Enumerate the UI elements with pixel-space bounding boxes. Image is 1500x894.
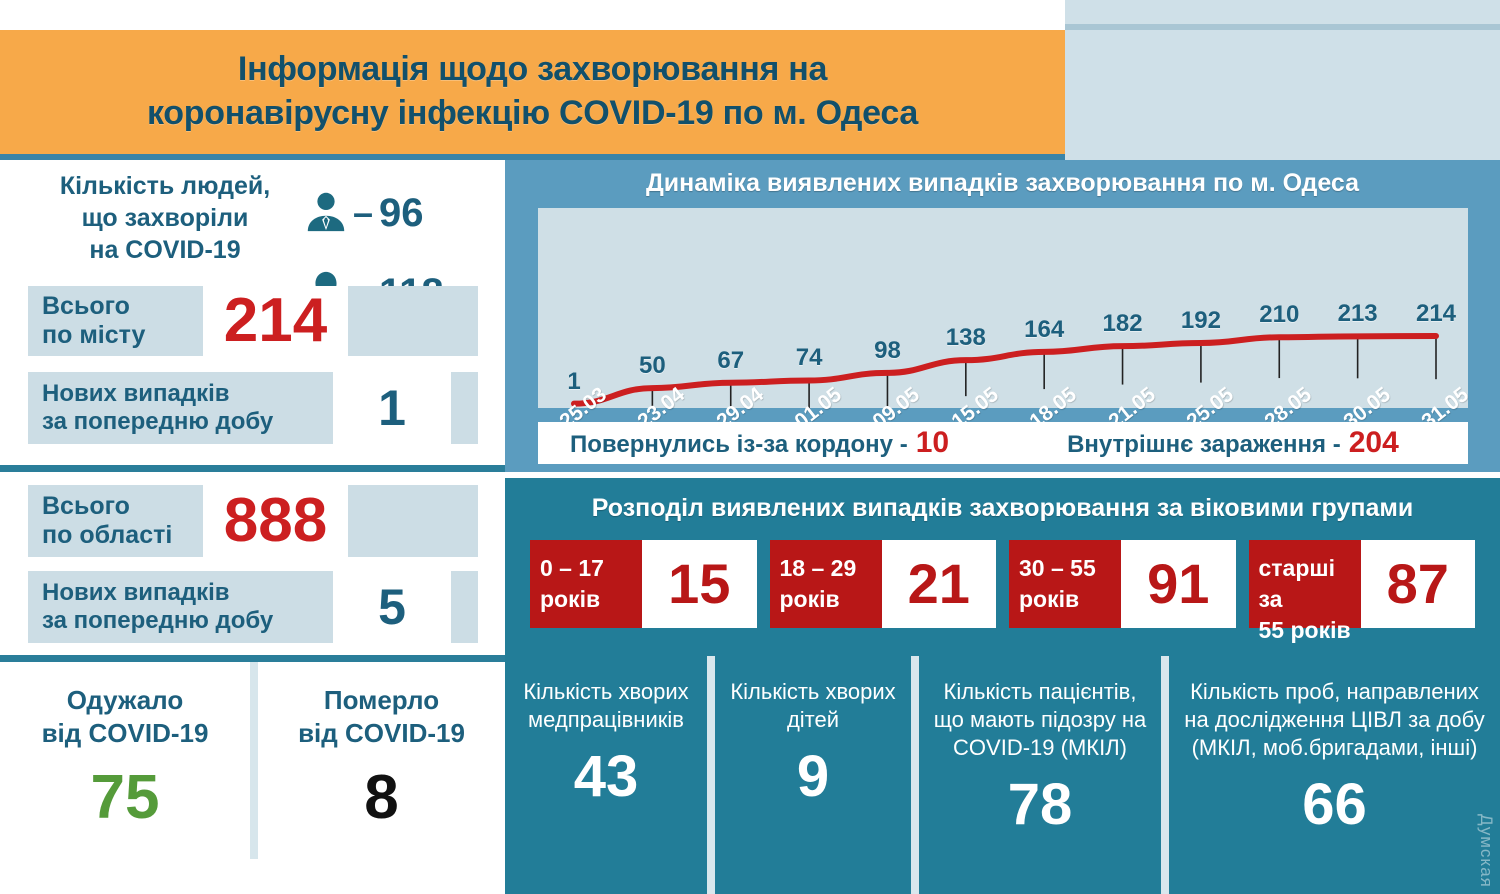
- header: Інформація щодо захворювання на коронаві…: [0, 30, 1500, 160]
- outcomes-divider: [250, 662, 258, 859]
- abroad-value: 10: [916, 426, 949, 460]
- bottom-cell-divider: [911, 656, 919, 894]
- city-total-value: 214: [224, 290, 327, 352]
- age-group-range: старші за55 років: [1249, 540, 1361, 628]
- chart-point-label: 67: [717, 349, 744, 373]
- bottom-stat-cell: Кількість хворихдітей9: [715, 656, 911, 894]
- oblast-total-value: 888: [224, 490, 327, 552]
- bottom-stats-row: Кількість хворихмедпрацівників43Кількіст…: [505, 656, 1500, 894]
- bottom-stat-cell: Кількість хворихмедпрацівників43: [505, 656, 707, 894]
- male-count: 96: [379, 193, 424, 233]
- bottom-stat-label: Кількість пацієнтів,що мають підозру наC…: [925, 656, 1155, 762]
- bottom-cell-divider: [1161, 656, 1169, 894]
- oblast-new-label-line2: за попередню добу: [42, 607, 273, 634]
- recovered-label: Одужало від COVID-19: [0, 662, 250, 749]
- origin-bar: Повернулись із-за кордону - 10 Внутрішнє…: [538, 422, 1468, 464]
- city-title-line2: що захворіли: [82, 204, 249, 232]
- city-new-value: 1: [378, 383, 406, 433]
- city-total-row: Всього по місту 214: [28, 286, 478, 356]
- age-group-range: 0 – 17років: [530, 540, 642, 628]
- abroad-item: Повернулись із-за кордону - 10: [570, 426, 949, 460]
- city-total-valuebox: 214: [203, 286, 348, 356]
- age-group-box: 0 – 17років15: [530, 540, 757, 628]
- died-label-line1: Померло: [324, 685, 439, 715]
- oblast-stats-block: Всього по області 888 Нових випадків за …: [0, 472, 505, 655]
- male-row: – 96: [303, 182, 483, 244]
- age-groups-panel: Розподіл виявлених випадків захворювання…: [505, 478, 1500, 656]
- age-group-value: 87: [1361, 540, 1476, 628]
- age-groups-list: 0 – 17років1518 – 29років2130 – 55років9…: [530, 540, 1475, 628]
- age-group-range-line2: років: [1019, 586, 1079, 612]
- bottom-stat-value: 9: [721, 734, 905, 806]
- left-divider-1: [0, 465, 505, 472]
- age-group-range-line2: 55 років: [1259, 617, 1351, 643]
- oblast-total-label-line2: по області: [42, 521, 172, 549]
- chart-point-label: 182: [1103, 312, 1143, 336]
- watermark: Думская: [1476, 814, 1496, 888]
- age-groups-title: Розподіл виявлених випадків захворювання…: [505, 478, 1500, 523]
- age-group-value: 15: [642, 540, 757, 628]
- city-stats-title: Кількість людей, що захворіли на COVID-1…: [0, 160, 330, 266]
- oblast-total-label-line1: Всього: [42, 492, 130, 520]
- chart-point-label: 138: [946, 326, 986, 350]
- left-column: Кількість людей, що захворіли на COVID-1…: [0, 160, 505, 894]
- age-group-range: 30 – 55років: [1009, 540, 1121, 628]
- age-group-range-line1: 18 – 29: [780, 555, 857, 581]
- city-total-label-line1: Всього: [42, 292, 130, 320]
- recovered-tile: Одужало від COVID-19 75: [0, 662, 250, 859]
- chart-point-label: 50: [639, 354, 666, 378]
- page-title: Інформація щодо захворювання на коронаві…: [15, 48, 1050, 135]
- age-group-range-line2: років: [780, 586, 840, 612]
- infographic-root: Інформація щодо захворювання на коронаві…: [0, 0, 1500, 894]
- oblast-total-label: Всього по області: [28, 492, 203, 551]
- internal-value: 204: [1349, 426, 1399, 460]
- age-group-box: старші за55 років87: [1249, 540, 1476, 628]
- chart-point-label: 210: [1259, 303, 1299, 327]
- age-group-range: 18 – 29років: [770, 540, 882, 628]
- city-title-line1: Кількість людей,: [60, 172, 270, 200]
- top-strip: [0, 0, 1500, 30]
- chart-point-label: 98: [874, 339, 901, 363]
- city-stats-block: Кількість людей, що захворіли на COVID-1…: [0, 160, 505, 465]
- bottom-stat-value: 78: [925, 762, 1155, 834]
- bottom-stat-label: Кількість хворихмедпрацівників: [511, 656, 701, 734]
- age-group-range-line1: старші за: [1259, 555, 1335, 612]
- died-value: 8: [258, 749, 505, 829]
- chart-point-label: 192: [1181, 309, 1221, 333]
- page-title-line1: Інформація щодо захворювання на: [238, 50, 827, 88]
- city-title-line3: на COVID-19: [89, 236, 240, 264]
- oblast-total-valuebox: 888: [203, 485, 348, 557]
- oblast-total-row: Всього по області 888: [28, 485, 478, 557]
- page-title-line2: коронавірусну інфекцію COVID-19 по м. Од…: [147, 94, 918, 132]
- chart-point-label: 74: [796, 346, 823, 370]
- chart-point-label: 164: [1024, 318, 1064, 342]
- right-column: Динаміка виявлених випадків захворювання…: [505, 160, 1500, 894]
- oblast-new-label: Нових випадків за попередню добу: [28, 579, 333, 636]
- bottom-stat-value: 43: [511, 734, 701, 806]
- age-group-value: 91: [1121, 540, 1236, 628]
- male-dash: –: [353, 195, 373, 231]
- recovered-label-line2: від COVID-19: [42, 718, 209, 748]
- chart-point-label: 213: [1338, 302, 1378, 326]
- chart-title: Динаміка виявлених випадків захворювання…: [505, 160, 1500, 198]
- bottom-stat-label: Кількість хворихдітей: [721, 656, 905, 734]
- bottom-stat-label: Кількість проб, направленихна дослідженн…: [1175, 656, 1494, 762]
- header-datetime: на 8:00 31.05 2020: [1065, 30, 1500, 160]
- age-group-range-line2: років: [540, 586, 600, 612]
- died-label: Померло від COVID-19: [258, 662, 505, 749]
- chart-point-label: 1: [567, 370, 580, 394]
- recovered-label-line1: Одужало: [67, 685, 183, 715]
- oblast-new-label-line1: Нових випадків: [42, 579, 230, 606]
- chart-point-label: 214: [1416, 302, 1456, 326]
- bottom-stat-cell: Кількість пацієнтів,що мають підозру наC…: [919, 656, 1161, 894]
- bottom-stat-cell: Кількість проб, направленихна дослідженн…: [1169, 656, 1500, 894]
- internal-label: Внутрішнє зараження -: [1067, 431, 1341, 459]
- city-new-row: Нових випадків за попередню добу 1: [28, 372, 478, 444]
- bottom-stats-panel: Кількість хворихмедпрацівників43Кількіст…: [505, 656, 1500, 894]
- internal-item: Внутрішнє зараження - 204: [1067, 426, 1399, 460]
- city-new-label: Нових випадків за попередню добу: [28, 380, 333, 437]
- recovered-value: 75: [0, 749, 250, 829]
- city-total-label: Всього по місту: [28, 292, 203, 351]
- bottom-stat-value: 66: [1175, 762, 1494, 834]
- chart-svg: [538, 208, 1468, 408]
- age-group-range-line1: 30 – 55: [1019, 555, 1096, 581]
- left-divider-2: [0, 655, 505, 662]
- age-group-value: 21: [882, 540, 997, 628]
- outcomes-block: Одужало від COVID-19 75 Померло від COVI…: [0, 662, 505, 859]
- bottom-cell-divider: [707, 656, 715, 894]
- city-total-label-line2: по місту: [42, 321, 145, 349]
- chart-plot-area: 150677498138164182192210213214: [538, 208, 1468, 408]
- age-group-box: 18 – 29років21: [770, 540, 997, 628]
- city-new-label-line2: за попередню добу: [42, 408, 273, 435]
- oblast-new-row: Нових випадків за попередню добу 5: [28, 571, 478, 643]
- age-group-range-line1: 0 – 17: [540, 555, 604, 581]
- chart-panel: Динаміка виявлених випадків захворювання…: [505, 160, 1500, 472]
- city-new-valuebox: 1: [333, 372, 451, 444]
- died-label-line2: від COVID-19: [298, 718, 465, 748]
- header-title-banner: Інформація щодо захворювання на коронаві…: [0, 30, 1065, 154]
- city-new-label-line1: Нових випадків: [42, 380, 230, 407]
- oblast-new-value: 5: [378, 582, 406, 632]
- age-group-box: 30 – 55років91: [1009, 540, 1236, 628]
- abroad-label: Повернулись із-за кордону -: [570, 431, 908, 459]
- died-tile: Померло від COVID-19 8: [258, 662, 505, 859]
- top-strip-left: [0, 0, 1065, 30]
- oblast-new-valuebox: 5: [333, 571, 451, 643]
- male-person-icon: [303, 188, 349, 239]
